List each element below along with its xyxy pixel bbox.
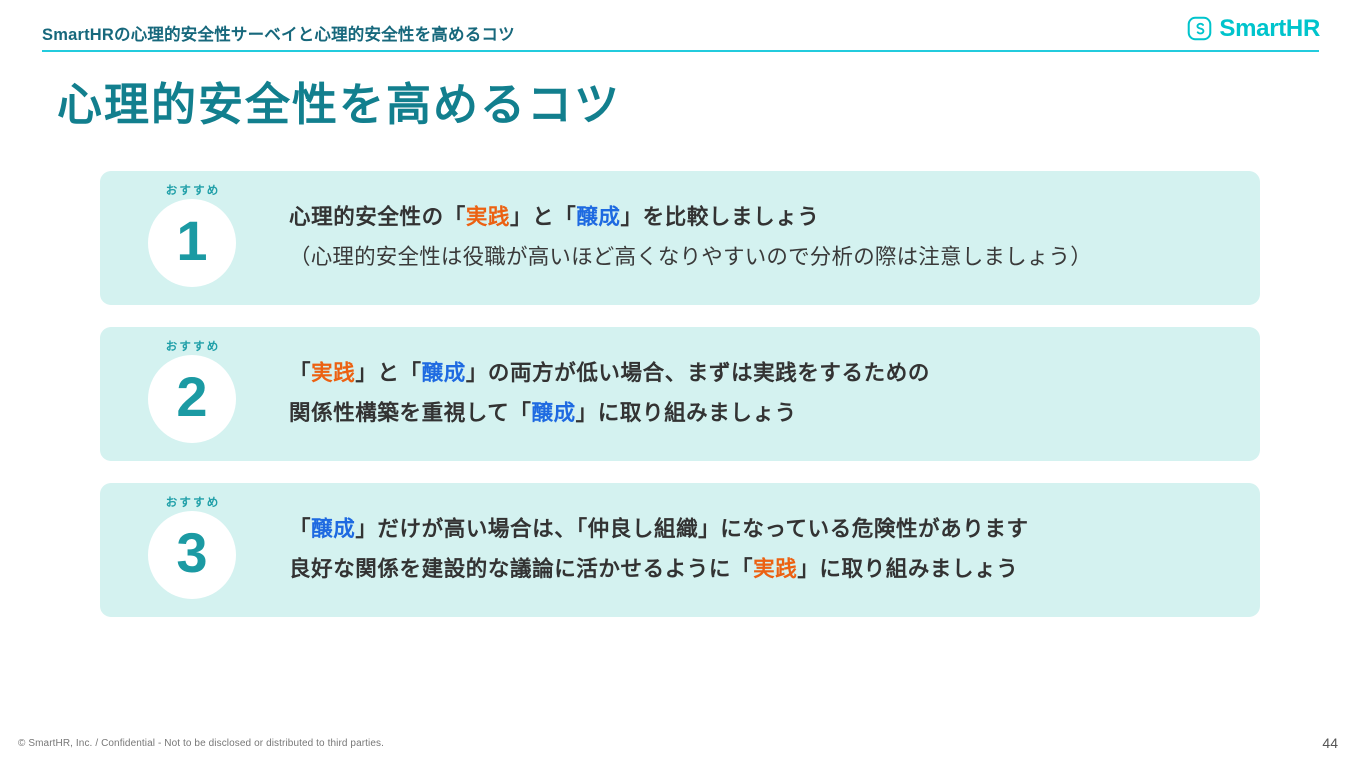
- recommendation-badge: おすすめ2: [144, 327, 240, 461]
- badge-label: おすすめ: [144, 494, 240, 510]
- recommendation-badge: おすすめ3: [144, 483, 240, 617]
- highlight-blue: 醸成: [576, 205, 620, 229]
- badge-number: 1: [176, 213, 207, 269]
- text-segment: （心理的安全性は役職が高いほど高くなりやすいので分析の際は注意しましょう）: [289, 245, 1092, 269]
- text-segment: 」と「: [355, 361, 421, 385]
- text-segment: 」に取り組みましょう: [797, 557, 1018, 581]
- tip-card-line: 関係性構築を重視して「醸成」に取り組みましょう: [289, 394, 1240, 434]
- page-title: 心理的安全性を高めるコツ: [57, 78, 621, 132]
- brand-name: SmartHR: [1219, 17, 1320, 41]
- smarthr-logo-icon: [1187, 16, 1212, 41]
- text-segment: 」を比較しましょう: [621, 205, 820, 229]
- recommendation-badge: おすすめ1: [144, 171, 240, 305]
- text-segment: 心理的安全性の「: [289, 205, 466, 229]
- text-segment: 「: [289, 517, 311, 541]
- tip-card: おすすめ1心理的安全性の「実践」と「醸成」を比較しましょう（心理的安全性は役職が…: [100, 171, 1260, 305]
- badge-label: おすすめ: [144, 338, 240, 354]
- tip-card: おすすめ2「実践」と「醸成」の両方が低い場合、まずは実践をするための関係性構築を…: [100, 327, 1260, 461]
- brand-logo: SmartHR: [1187, 16, 1320, 41]
- badge-circle: 3: [148, 511, 236, 599]
- text-segment: 」と「: [510, 205, 576, 229]
- tip-card-body: 「実践」と「醸成」の両方が低い場合、まずは実践をするための関係性構築を重視して「…: [289, 327, 1240, 461]
- tips-card-list: おすすめ1心理的安全性の「実践」と「醸成」を比較しましょう（心理的安全性は役職が…: [100, 171, 1260, 639]
- tip-card-body: 「醸成」だけが高い場合は、「仲良し組織」になっている危険性があります良好な関係を…: [289, 483, 1240, 617]
- text-segment: 関係性構築を重視して「: [289, 401, 531, 425]
- header-divider: [42, 50, 1319, 52]
- badge-number: 3: [176, 525, 207, 581]
- footer-page-number: 44: [1322, 735, 1338, 751]
- header-title: SmartHRの心理的安全性サーベイと心理的安全性を高めるコツ: [42, 21, 515, 45]
- badge-circle: 1: [148, 199, 236, 287]
- text-segment: 」だけが高い場合は、「仲良し組織」になっている危険性があります: [355, 517, 1028, 541]
- highlight-blue: 醸成: [311, 517, 355, 541]
- tip-card-line: 良好な関係を建設的な議論に活かせるように「実践」に取り組みましょう: [289, 550, 1240, 590]
- tip-card: おすすめ3「醸成」だけが高い場合は、「仲良し組織」になっている危険性があります良…: [100, 483, 1260, 617]
- badge-number: 2: [176, 369, 207, 425]
- tip-card-line: （心理的安全性は役職が高いほど高くなりやすいので分析の際は注意しましょう）: [289, 238, 1240, 278]
- text-segment: 」の両方が低い場合、まずは実践をするための: [466, 361, 930, 385]
- text-segment: 「: [289, 361, 311, 385]
- badge-label: おすすめ: [144, 182, 240, 198]
- highlight-orange: 実践: [753, 557, 797, 581]
- footer-copyright: © SmartHR, Inc. / Confidential - Not to …: [18, 738, 384, 749]
- tip-card-body: 心理的安全性の「実践」と「醸成」を比較しましょう（心理的安全性は役職が高いほど高…: [289, 171, 1240, 305]
- tip-card-line: 「醸成」だけが高い場合は、「仲良し組織」になっている危険性があります: [289, 510, 1240, 550]
- slide-header: SmartHRの心理的安全性サーベイと心理的安全性を高めるコツ SmartHR: [0, 0, 1360, 56]
- highlight-blue: 醸成: [531, 401, 575, 425]
- highlight-orange: 実践: [466, 205, 510, 229]
- text-segment: 」に取り組みましょう: [576, 401, 797, 425]
- badge-circle: 2: [148, 355, 236, 443]
- highlight-orange: 実践: [311, 361, 355, 385]
- tip-card-line: 心理的安全性の「実践」と「醸成」を比較しましょう: [289, 198, 1240, 238]
- highlight-blue: 醸成: [422, 361, 466, 385]
- tip-card-line: 「実践」と「醸成」の両方が低い場合、まずは実践をするための: [289, 354, 1240, 394]
- text-segment: 良好な関係を建設的な議論に活かせるように「: [289, 557, 753, 581]
